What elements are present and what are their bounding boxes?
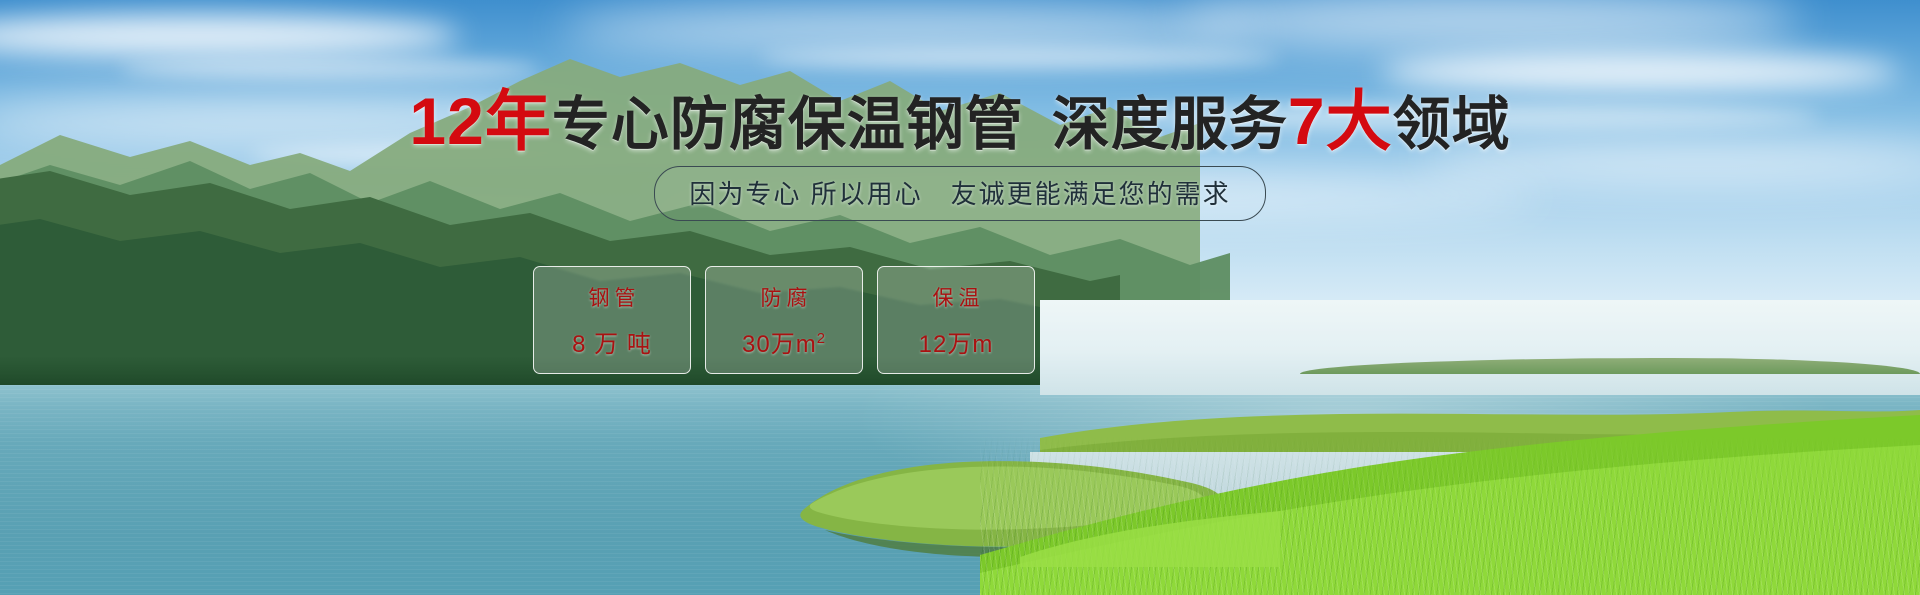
stat-card-value: 12万m [919, 324, 994, 359]
stat-value-text: 12万m [919, 331, 994, 358]
stat-card-value: 30万m2 [742, 324, 826, 359]
stat-card-value: 8 万 吨 [572, 324, 652, 359]
headline: 12年专心防腐保温钢管深度服务7大领域 [0, 88, 1920, 154]
headline-part-years: 12年 [409, 84, 551, 158]
stat-card-label: 防腐 [756, 282, 813, 312]
subtitle-wrap: 因为专心 所以用心 友诚更能满足您的需求 [0, 166, 1920, 221]
stat-value-superscript: 2 [817, 331, 826, 347]
subtitle-pill: 因为专心 所以用心 友诚更能满足您的需求 [654, 166, 1265, 221]
far-shore-water [1040, 300, 1920, 395]
stat-card-steel-pipe[interactable]: 钢管 8 万 吨 [533, 266, 691, 374]
headline-part-fields: 领域 [1393, 92, 1511, 157]
stat-value-text: 30万m [742, 331, 817, 358]
stat-card-anticorrosion[interactable]: 防腐 30万m2 [705, 266, 863, 374]
stat-value-text: 8 万 吨 [572, 331, 652, 358]
stat-card-group: 钢管 8 万 吨 防腐 30万m2 保温 12万m [533, 266, 1035, 374]
headline-part-seven: 7大 [1288, 84, 1393, 158]
hero-banner: 12年专心防腐保温钢管深度服务7大领域 因为专心 所以用心 友诚更能满足您的需求… [0, 0, 1920, 595]
headline-part-service: 深度服务 [1052, 92, 1288, 157]
grass-tuft [1020, 497, 1280, 567]
headline-part-focus: 专心防腐保温钢管 [552, 92, 1024, 157]
stat-card-label: 钢管 [584, 282, 641, 312]
stat-card-label: 保温 [928, 282, 985, 312]
cloud-shape [1380, 52, 1900, 92]
stat-card-insulation[interactable]: 保温 12万m [877, 266, 1035, 374]
